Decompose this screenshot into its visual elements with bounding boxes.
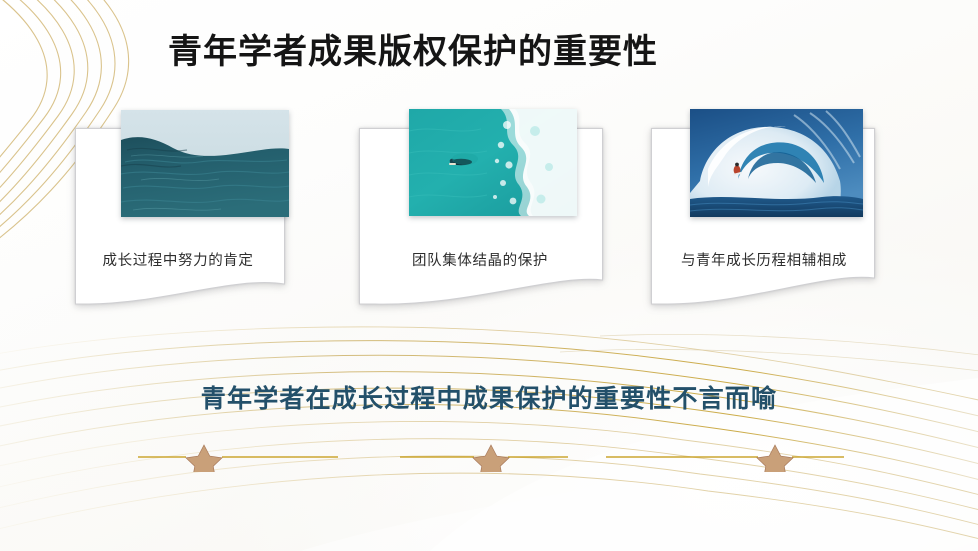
slide-canvas: 青年学者成果版权保护的重要性: [0, 0, 978, 551]
page-title: 青年学者成果版权保护的重要性: [168, 30, 658, 74]
card-2-caption: 团队集体结晶的保护: [357, 251, 603, 271]
content-card-2[interactable]: 团队集体结晶的保护: [359, 128, 603, 313]
card-3-image: [690, 109, 863, 217]
content-card-1[interactable]: 成长过程中努力的肯定: [75, 128, 285, 313]
star-icon: [186, 445, 793, 472]
star-divider: [138, 442, 844, 472]
card-1-image: [121, 110, 289, 217]
card-3-caption: 与青年成长历程相辅相成: [653, 251, 875, 271]
card-1-caption: 成长过程中努力的肯定: [71, 251, 285, 271]
tagline-text: 青年学者在成长过程中成果保护的重要性不言而喻: [0, 379, 978, 415]
card-2-image: [409, 109, 577, 216]
content-card-3[interactable]: 与青年成长历程相辅相成: [651, 128, 875, 313]
